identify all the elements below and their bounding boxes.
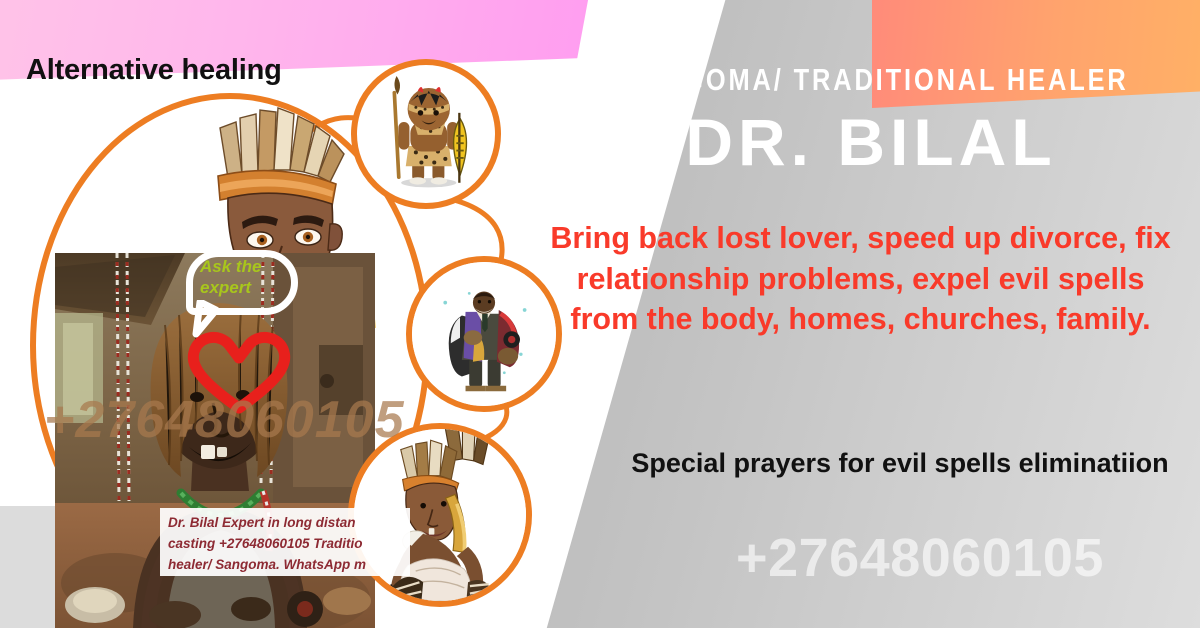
caption-line-2: casting +27648060105 Traditio — [168, 534, 402, 555]
speech-bubble-text: Ask the expert — [200, 256, 296, 299]
contact-phone-watermark: +27648060105 — [640, 527, 1200, 589]
page-title: Alternative healing — [26, 54, 282, 87]
photo-caption: Dr. Bilal Expert in long distan casting … — [160, 508, 410, 576]
special-prayers-text: Special prayers for evil spells eliminat… — [620, 445, 1180, 482]
caption-line-3: healer/ Sangoma. WhatsApp m — [168, 555, 402, 576]
zulu-warrior-illustration — [357, 65, 495, 203]
badge-robed-figure — [406, 256, 562, 412]
healer-name: DR. BILAL — [566, 104, 1176, 180]
poster-canvas: Alternative healing — [0, 0, 1200, 628]
photo-watermark-phone: +27648060105 — [44, 390, 405, 450]
services-text: Bring back lost lover, speed up divorce,… — [548, 218, 1173, 340]
caption-line-1: Dr. Bilal Expert in long distan — [168, 513, 402, 534]
badge-zulu-warrior — [351, 59, 501, 209]
robed-traditional-figure-illustration — [412, 262, 556, 406]
subtitle-kicker: SANGOMA/ TRADITIONAL HEALER — [621, 62, 1121, 98]
